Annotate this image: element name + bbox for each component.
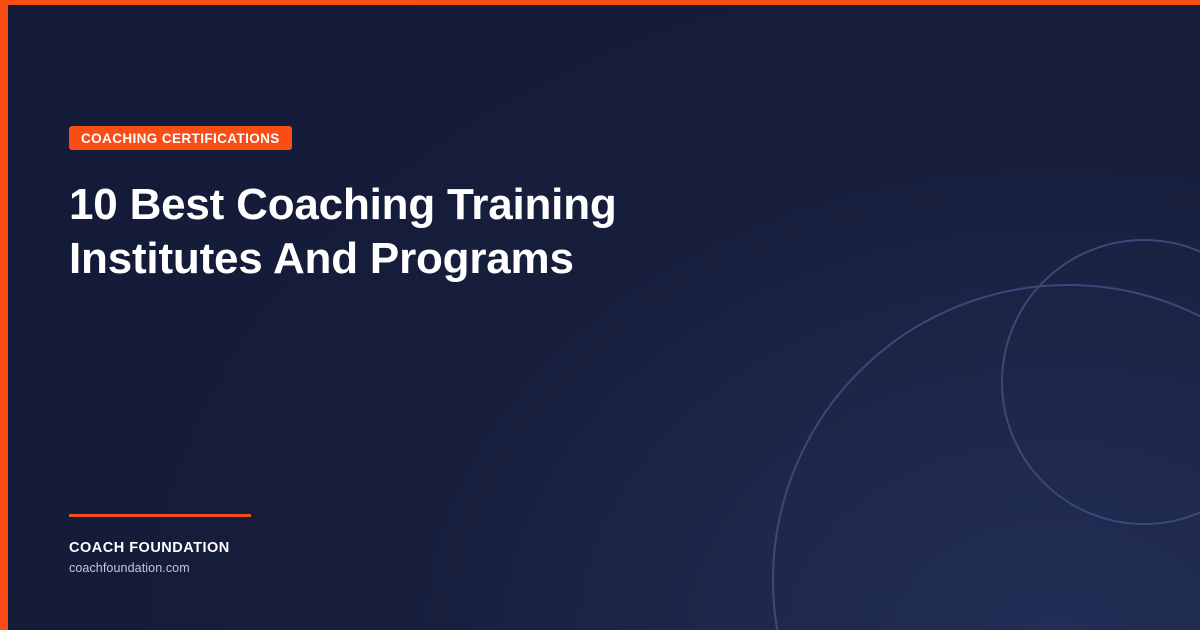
social-share-card: COACHING CERTIFICATIONS 10 Best Coaching… — [0, 0, 1200, 630]
card-footer: COACH FOUNDATION coachfoundation.com — [69, 514, 489, 577]
left-accent-bar — [0, 0, 8, 630]
brand-website: coachfoundation.com — [69, 560, 489, 577]
top-accent-bar — [0, 0, 1200, 5]
footer-divider — [69, 514, 251, 517]
page-title: 10 Best Coaching Training Institutes And… — [69, 178, 729, 286]
card-content: COACHING CERTIFICATIONS 10 Best Coaching… — [0, 0, 1200, 630]
category-badge: COACHING CERTIFICATIONS — [69, 126, 292, 150]
brand-name: COACH FOUNDATION — [69, 539, 489, 557]
